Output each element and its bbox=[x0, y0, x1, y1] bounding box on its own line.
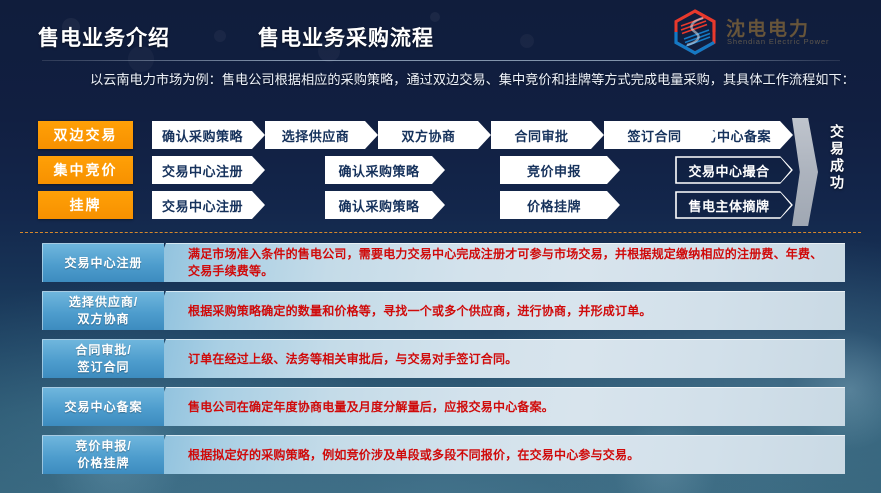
description-text: 根据采购策略确定的数量和价格等，寻找一个或多个供应商，进行协商，并形成订单。 bbox=[188, 303, 652, 320]
intro-paragraph: 以云南电力市场为例：售电公司根据相应的采购策略，通过双边交易、集中竞价和挂牌等方… bbox=[64, 68, 864, 91]
flow-row-bilateral: 双边交易 确认采购策略选择供应商双方协商合同审批签订合同交易中心备案 bbox=[0, 121, 881, 150]
shendian-hex-s-logo-icon bbox=[672, 9, 718, 55]
description-row: 根据采购策略确定的数量和价格等，寻找一个或多个供应商，进行协商，并形成订单。选择… bbox=[0, 291, 881, 330]
flow-step-chevron[interactable]: 签订合同 bbox=[604, 121, 717, 149]
flow-step-label: 双方协商 bbox=[401, 126, 455, 145]
flow-step-label: 价格挂牌 bbox=[527, 196, 581, 215]
flow-step-chevron[interactable]: 确认采购策略 bbox=[325, 191, 445, 219]
description-body: 订单在经过上级、法务等相关审批后，与交易对手签订合同。 bbox=[150, 339, 845, 378]
flow-step-chevron[interactable]: 确认采购策略 bbox=[325, 156, 445, 184]
flow-step-label: 签订合同 bbox=[627, 126, 681, 145]
description-body: 根据拟定好的采购策略，例如竞价涉及单段或多段不同报价，在交易中心参与交易。 bbox=[150, 435, 845, 474]
description-step-label[interactable]: 竞价申报/价格挂牌 bbox=[42, 435, 164, 474]
flow-step-chevron[interactable]: 双方协商 bbox=[378, 121, 491, 149]
flow-step-chevron[interactable]: 价格挂牌 bbox=[500, 191, 620, 219]
flow-step-label: 交易中心撮合 bbox=[688, 161, 769, 180]
flow-step-chevron[interactable]: 确认采购策略 bbox=[152, 121, 265, 149]
flow-step-chevron[interactable]: 竞价申报 bbox=[500, 156, 620, 184]
description-body: 根据采购策略确定的数量和价格等，寻找一个或多个供应商，进行协商，并形成订单。 bbox=[150, 291, 845, 330]
description-step-label-line: 竞价申报/ bbox=[75, 438, 131, 455]
flow-step-label: 确认采购策略 bbox=[338, 196, 419, 215]
description-step-label[interactable]: 合同审批/签订合同 bbox=[42, 339, 164, 378]
flow-category-tag[interactable]: 集中竞价 bbox=[38, 156, 133, 184]
flow-step-label: 售电主体摘牌 bbox=[688, 196, 769, 215]
logo-english-name: Shendian Electric Power bbox=[727, 37, 829, 46]
description-step-label[interactable]: 选择供应商/双方协商 bbox=[42, 291, 164, 330]
flow-step-chevron[interactable]: 选择供应商 bbox=[265, 121, 378, 149]
page-title: 售电业务采购流程 bbox=[258, 22, 434, 52]
flow-step-chevron[interactable]: 售电主体摘牌 bbox=[675, 191, 793, 219]
flow-row-centralized-bidding: 集中竞价 交易中心注册确认采购策略竞价申报交易中心撮合 bbox=[0, 156, 881, 185]
header-divider bbox=[42, 60, 840, 61]
flow-step-label: 竞价申报 bbox=[527, 161, 581, 180]
flow-step-label: 合同审批 bbox=[514, 126, 568, 145]
section-divider bbox=[20, 232, 861, 233]
description-step-label-line: 合同审批/ bbox=[75, 342, 131, 359]
description-text: 根据拟定好的采购策略，例如竞价涉及单段或多段不同报价，在交易中心参与交易。 bbox=[188, 447, 639, 464]
description-step-label-line: 双方协商 bbox=[77, 311, 129, 328]
description-step-label-line: 交易中心注册 bbox=[64, 255, 142, 271]
description-body: 满足市场准入条件的售电公司，需要电力交易中心完成注册才可参与市场交易，并根据规定… bbox=[150, 243, 845, 282]
description-text: 售电公司在确定年度协商电量及月度分解量后，应报交易中心备案。 bbox=[188, 399, 554, 416]
flow-step-label: 选择供应商 bbox=[282, 126, 350, 145]
flow-step-chevron[interactable]: 交易中心注册 bbox=[152, 156, 265, 184]
description-step-label-line: 交易中心备案 bbox=[64, 399, 142, 415]
description-step-label-line: 价格挂牌 bbox=[77, 455, 129, 472]
flow-step-chevron[interactable]: 合同审批 bbox=[491, 121, 604, 149]
description-row: 订单在经过上级、法务等相关审批后，与交易对手签订合同。合同审批/签订合同 bbox=[0, 339, 881, 378]
description-row: 售电公司在确定年度协商电量及月度分解量后，应报交易中心备案。交易中心备案 bbox=[0, 387, 881, 426]
purchase-flow-diagram: 双边交易 确认采购策略选择供应商双方协商合同审批签订合同交易中心备案 集中竞价 … bbox=[0, 118, 881, 230]
flow-step-label: 交易中心注册 bbox=[162, 196, 243, 215]
description-row: 根据拟定好的采购策略，例如竞价涉及单段或多段不同报价，在交易中心参与交易。竞价申… bbox=[0, 435, 881, 474]
slide-header: 售电业务介绍 售电业务采购流程 bbox=[0, 0, 881, 62]
description-text: 订单在经过上级、法务等相关审批后，与交易对手签订合同。 bbox=[188, 351, 517, 368]
success-label: 交易成功 bbox=[826, 124, 848, 192]
flow-step-label: 确认采购策略 bbox=[338, 161, 419, 180]
description-step-label-line: 签订合同 bbox=[77, 359, 129, 376]
description-row: 满足市场准入条件的售电公司，需要电力交易中心完成注册才可参与市场交易，并根据规定… bbox=[0, 243, 881, 282]
flow-category-tag[interactable]: 双边交易 bbox=[38, 121, 133, 149]
flow-step-label: 确认采购策略 bbox=[162, 126, 243, 145]
slide-canvas: 售电业务介绍 售电业务采购流程 bbox=[0, 0, 881, 493]
description-step-label[interactable]: 交易中心备案 bbox=[42, 387, 164, 426]
flow-step-chevron[interactable]: 交易中心撮合 bbox=[675, 156, 793, 184]
brand-logo: 沈电电力 Shendian Electric Power bbox=[672, 8, 872, 56]
description-text: 满足市场准入条件的售电公司，需要电力交易中心完成注册才可参与市场交易，并根据规定… bbox=[188, 246, 829, 280]
flow-step-chevron[interactable]: 交易中心注册 bbox=[152, 191, 265, 219]
flow-row-listing: 挂牌 交易中心注册确认采购策略价格挂牌售电主体摘牌 bbox=[0, 191, 881, 220]
page-title-section: 售电业务介绍 bbox=[38, 22, 170, 52]
flow-category-tag[interactable]: 挂牌 bbox=[38, 191, 133, 219]
description-step-label-line: 选择供应商/ bbox=[69, 294, 138, 311]
description-step-label[interactable]: 交易中心注册 bbox=[42, 243, 164, 282]
flow-step-label: 交易中心注册 bbox=[162, 161, 243, 180]
description-body: 售电公司在确定年度协商电量及月度分解量后，应报交易中心备案。 bbox=[150, 387, 845, 426]
step-descriptions-list: 满足市场准入条件的售电公司，需要电力交易中心完成注册才可参与市场交易，并根据规定… bbox=[0, 243, 881, 483]
